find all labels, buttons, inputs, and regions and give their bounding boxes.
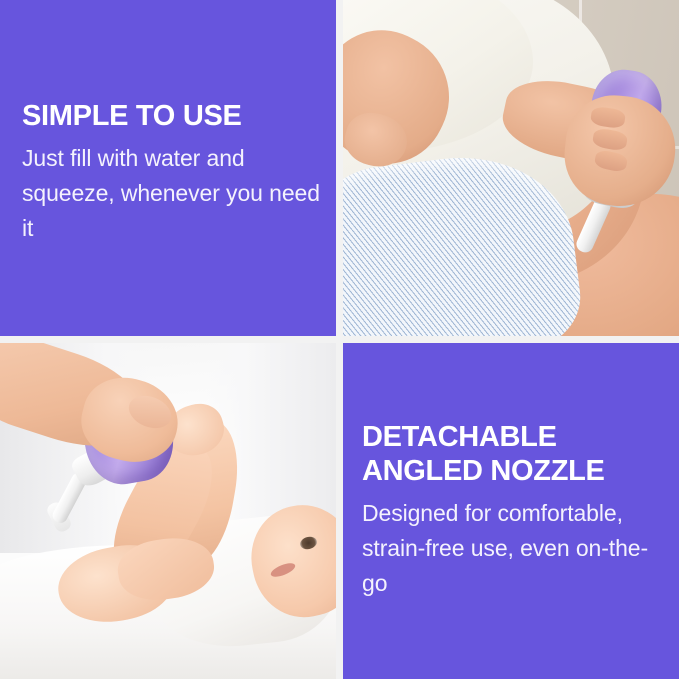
- panel-detachable-angled-nozzle-heading: DETACHABLE ANGLED NOZZLE: [362, 420, 679, 488]
- panel-simple-to-use-heading: SIMPLE TO USE: [22, 99, 336, 133]
- panel-detachable-angled-nozzle: DETACHABLE ANGLED NOZZLE Designed for co…: [343, 343, 679, 679]
- photo-canvas-bottom-left: [0, 343, 336, 679]
- photo-canvas-top-right: [343, 0, 679, 336]
- photo-woman-peri-bottle: [343, 0, 679, 336]
- feature-grid: SIMPLE TO USE Just fill with water and s…: [0, 0, 679, 679]
- panel-simple-to-use: SIMPLE TO USE Just fill with water and s…: [0, 0, 336, 336]
- photo-baby-peri-bottle: [0, 343, 336, 679]
- panel-detachable-angled-nozzle-body: Designed for comfortable, strain-free us…: [362, 496, 670, 601]
- panel-simple-to-use-body: Just fill with water and squeeze, whenev…: [22, 141, 322, 246]
